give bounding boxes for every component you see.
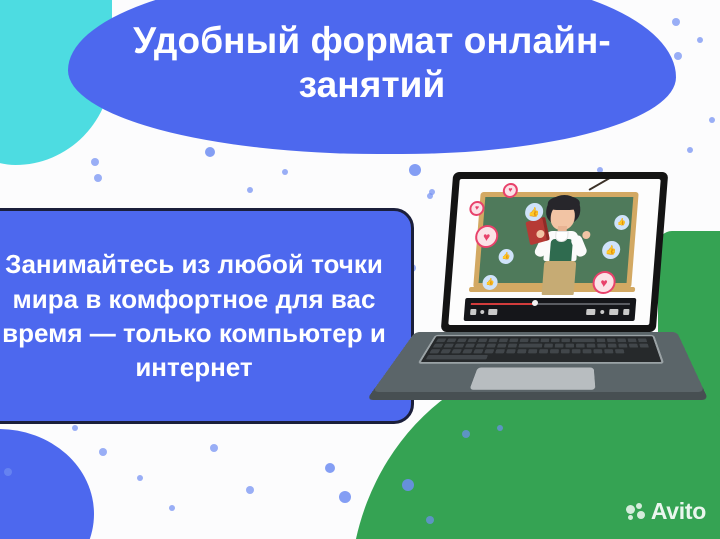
keyboard-key [628, 338, 637, 342]
keyboard-key [565, 344, 574, 348]
keyboard-key [604, 349, 613, 353]
decorative-dot [325, 463, 335, 473]
keyboard-key [530, 338, 539, 342]
video-player-controls[interactable] [464, 298, 637, 321]
decorative-dot [687, 147, 693, 153]
subtitles-icon[interactable] [586, 309, 595, 315]
decorative-dot [426, 516, 434, 524]
keyboard-key [555, 344, 564, 348]
keyboard-key [561, 349, 570, 353]
fullscreen-icon[interactable] [623, 309, 629, 315]
teacher-right-hand [582, 231, 591, 239]
keyboard-key [615, 349, 624, 353]
keyboard-key [486, 344, 496, 348]
keyboard-key [457, 338, 467, 342]
keyboard-key [544, 344, 553, 348]
keyboard-key [587, 344, 596, 348]
keyboard-key [473, 349, 483, 353]
next-icon[interactable] [480, 310, 484, 314]
keyboard-key [617, 338, 626, 342]
keyboard-key [597, 338, 606, 342]
keyboard-key [454, 344, 464, 348]
keyboard-key [429, 349, 440, 353]
keyboard-key [465, 344, 475, 348]
feature-card-text: Занимайтесь из любой точки мира в комфор… [0, 247, 399, 384]
keyboard-key [462, 349, 473, 353]
keyboard-key [528, 349, 537, 353]
volume-icon[interactable] [488, 309, 497, 315]
keyboard-key [576, 344, 585, 348]
keyboard-icon [417, 335, 664, 364]
keyboard-key [499, 338, 508, 342]
promo-banner: Удобный формат онлайн-занятий Занимайтес… [0, 0, 720, 539]
decorative-dot [137, 475, 143, 481]
keyboard-key [551, 338, 560, 342]
keyboard-key [539, 349, 548, 353]
decorative-dot [339, 491, 351, 503]
keyboard-key [518, 344, 542, 348]
keyboard-key [593, 349, 602, 353]
trackpad [469, 367, 595, 389]
teacher-skirt [542, 261, 577, 295]
decorative-dot [4, 468, 12, 476]
decorative-dot [91, 158, 99, 166]
decorative-dot [672, 18, 680, 26]
keyboard-key [572, 349, 581, 353]
keyboard-key [497, 344, 507, 348]
decorative-dot [94, 174, 102, 182]
keyboard-key [495, 349, 505, 353]
keyboard-key [440, 349, 451, 353]
keyboard-key [446, 338, 456, 342]
decorative-dot [282, 169, 288, 175]
laptop-screen: ♥♥👍♥👍👍👍👍♥ [448, 179, 660, 325]
keyboard-key [509, 338, 518, 342]
pause-icon[interactable] [470, 309, 476, 315]
keyboard-key [638, 338, 647, 342]
laptop-base [415, 324, 680, 414]
keyboard-key [517, 349, 527, 353]
avito-logo-icon [626, 503, 646, 520]
laptop-lid: ♥♥👍♥👍👍👍👍♥ [441, 172, 669, 332]
decorative-dot [402, 479, 414, 491]
keyboard-key [550, 349, 559, 353]
teacher-fringe [547, 196, 580, 210]
decorative-dot [674, 52, 682, 60]
player-left-controls[interactable] [470, 309, 497, 315]
feature-card: Занимайтесь из любой точки мира в комфор… [0, 208, 414, 424]
decorative-dot [210, 444, 218, 452]
keyboard-key [433, 344, 444, 348]
keyboard-key [597, 344, 606, 348]
keyboard-key [541, 338, 550, 342]
keyboard-key [520, 338, 529, 342]
spacebar-key [426, 355, 488, 359]
keyboard-key [443, 344, 454, 348]
settings-icon[interactable] [600, 310, 604, 314]
keyboard-key [476, 344, 486, 348]
avito-watermark: Avito [626, 498, 706, 525]
keyboard-key [451, 349, 462, 353]
decorative-dot [99, 448, 107, 456]
keyboard-key [629, 344, 638, 348]
theater-icon[interactable] [609, 309, 618, 315]
laptop-illustration: ♥♥👍♥👍👍👍👍♥ [415, 172, 680, 440]
decorative-dot [709, 117, 715, 123]
decorative-dot [697, 37, 703, 43]
pointer-stick-icon [588, 179, 621, 191]
keyboard-key [484, 349, 494, 353]
keyboard-key [572, 338, 595, 342]
player-right-controls[interactable] [586, 309, 629, 315]
avito-wordmark: Avito [651, 498, 706, 525]
keyboard-key [583, 349, 592, 353]
blue-corner-blob-decoration [0, 429, 94, 539]
page-title: Удобный формат онлайн-занятий [92, 19, 652, 110]
keyboard-key [561, 338, 569, 342]
progress-fill [471, 303, 535, 305]
keyboard-key [467, 338, 477, 342]
decorative-dot [205, 147, 215, 157]
decorative-dot [247, 187, 253, 193]
decorative-dot [72, 425, 78, 431]
keyboard-key [506, 349, 516, 353]
headline-blob: Удобный формат онлайн-занятий [68, 0, 676, 154]
keyboard-key [508, 344, 518, 348]
progress-knob[interactable] [531, 300, 537, 306]
progress-track[interactable] [471, 303, 630, 305]
keyboard-key [607, 338, 616, 342]
keyboard-key [436, 338, 446, 342]
keyboard-key [488, 338, 498, 342]
laptop-deck [372, 332, 705, 392]
keyboard-key [478, 338, 488, 342]
keyboard-key [639, 344, 649, 348]
keyboard-key [618, 344, 627, 348]
keyboard-key [608, 344, 617, 348]
decorative-dot [246, 486, 254, 494]
decorative-dot [169, 505, 175, 511]
